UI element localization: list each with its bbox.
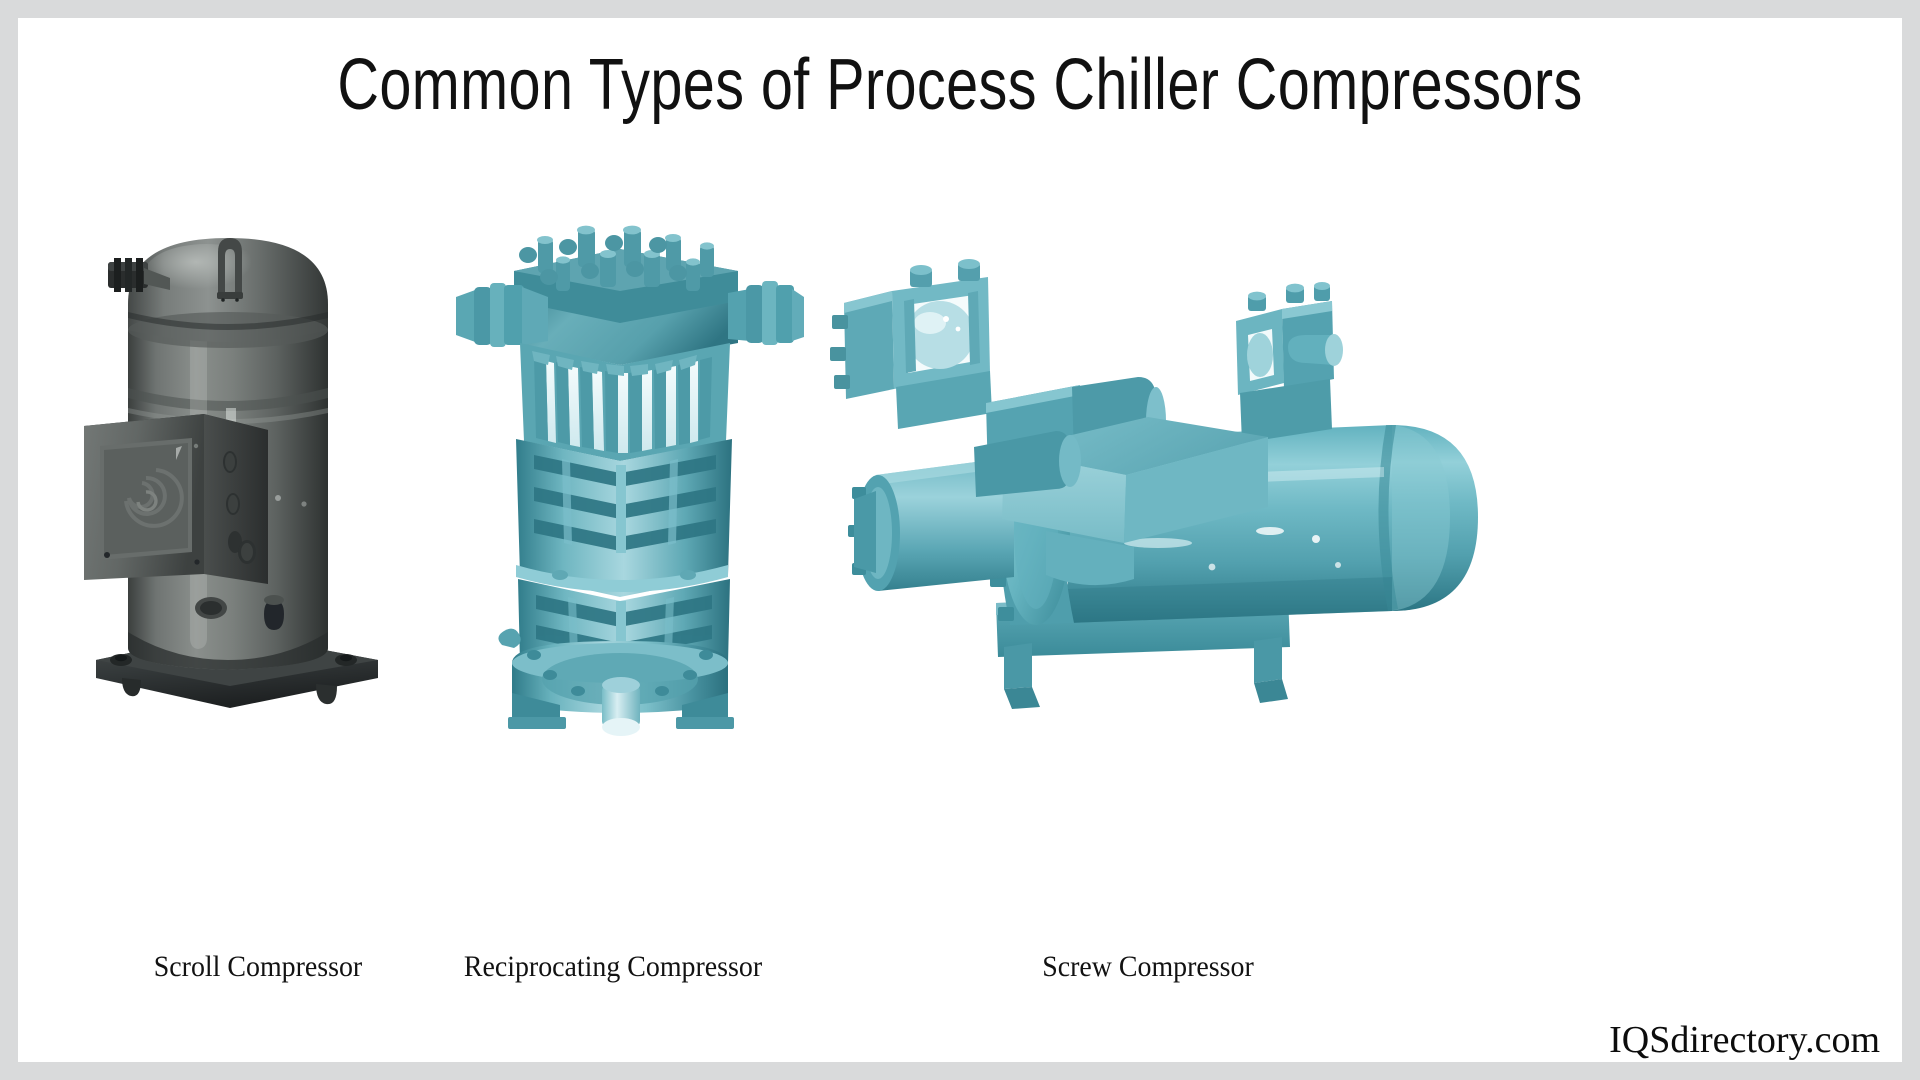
caption-reciprocating-compressor: Reciprocating Compressor [404,950,823,984]
caption-screw-compressor: Screw Compressor [916,950,1381,984]
reciprocating-compressor-figure [438,193,808,738]
scroll-compressor-figure [78,208,398,728]
scroll-terminal-box [84,414,268,584]
page-title: Common Types of Process Chiller Compress… [206,42,1713,128]
watermark-source: IQSdirectory.com [1609,1018,1880,1062]
recip-suction-flange [456,283,548,347]
infographic-root: Common Types of Process Chiller Compress… [0,0,1920,1080]
caption-scroll-compressor: Scroll Compressor [63,950,454,984]
recip-cylinder-head [514,226,738,365]
recip-discharge-flange [728,281,804,345]
recip-crankshaft-stub [602,677,640,736]
scroll-dome-top [128,238,328,348]
screw-inspection-frame-left [830,259,992,429]
screw-compressor-illustration [818,243,1538,743]
recip-crankcase-upper [516,439,732,597]
screw-inspection-frame-right [1236,282,1343,443]
scroll-compressor-illustration [78,208,398,728]
screw-compressor-figure [818,243,1538,743]
infographic-canvas: Common Types of Process Chiller Compress… [18,18,1902,1062]
reciprocating-compressor-illustration [438,193,808,738]
